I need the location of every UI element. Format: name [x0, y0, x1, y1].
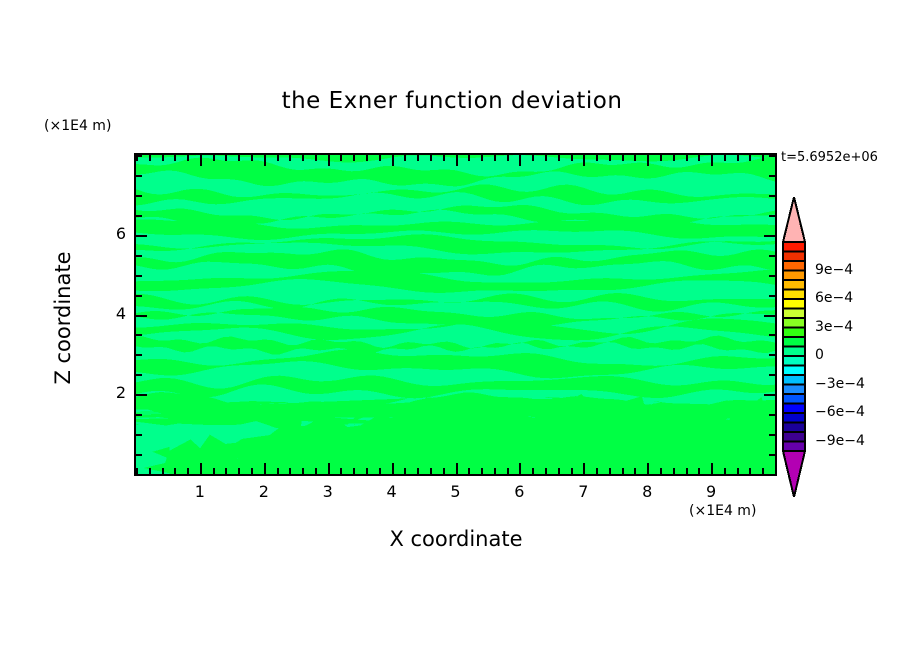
colorbar-tick-labels: 9e−46e−43e−40−3e−4−6e−4−9e−4 — [0, 0, 904, 654]
colorbar-tick-label: −9e−4 — [815, 433, 865, 449]
colorbar-tick-label: 9e−4 — [815, 262, 853, 278]
colorbar-tick-label: 0 — [815, 347, 824, 363]
colorbar-tick-label: −6e−4 — [815, 404, 865, 420]
colorbar-tick-label: 3e−4 — [815, 319, 853, 335]
colorbar-tick-label: −3e−4 — [815, 376, 865, 392]
colorbar-tick-label: 6e−4 — [815, 290, 853, 306]
